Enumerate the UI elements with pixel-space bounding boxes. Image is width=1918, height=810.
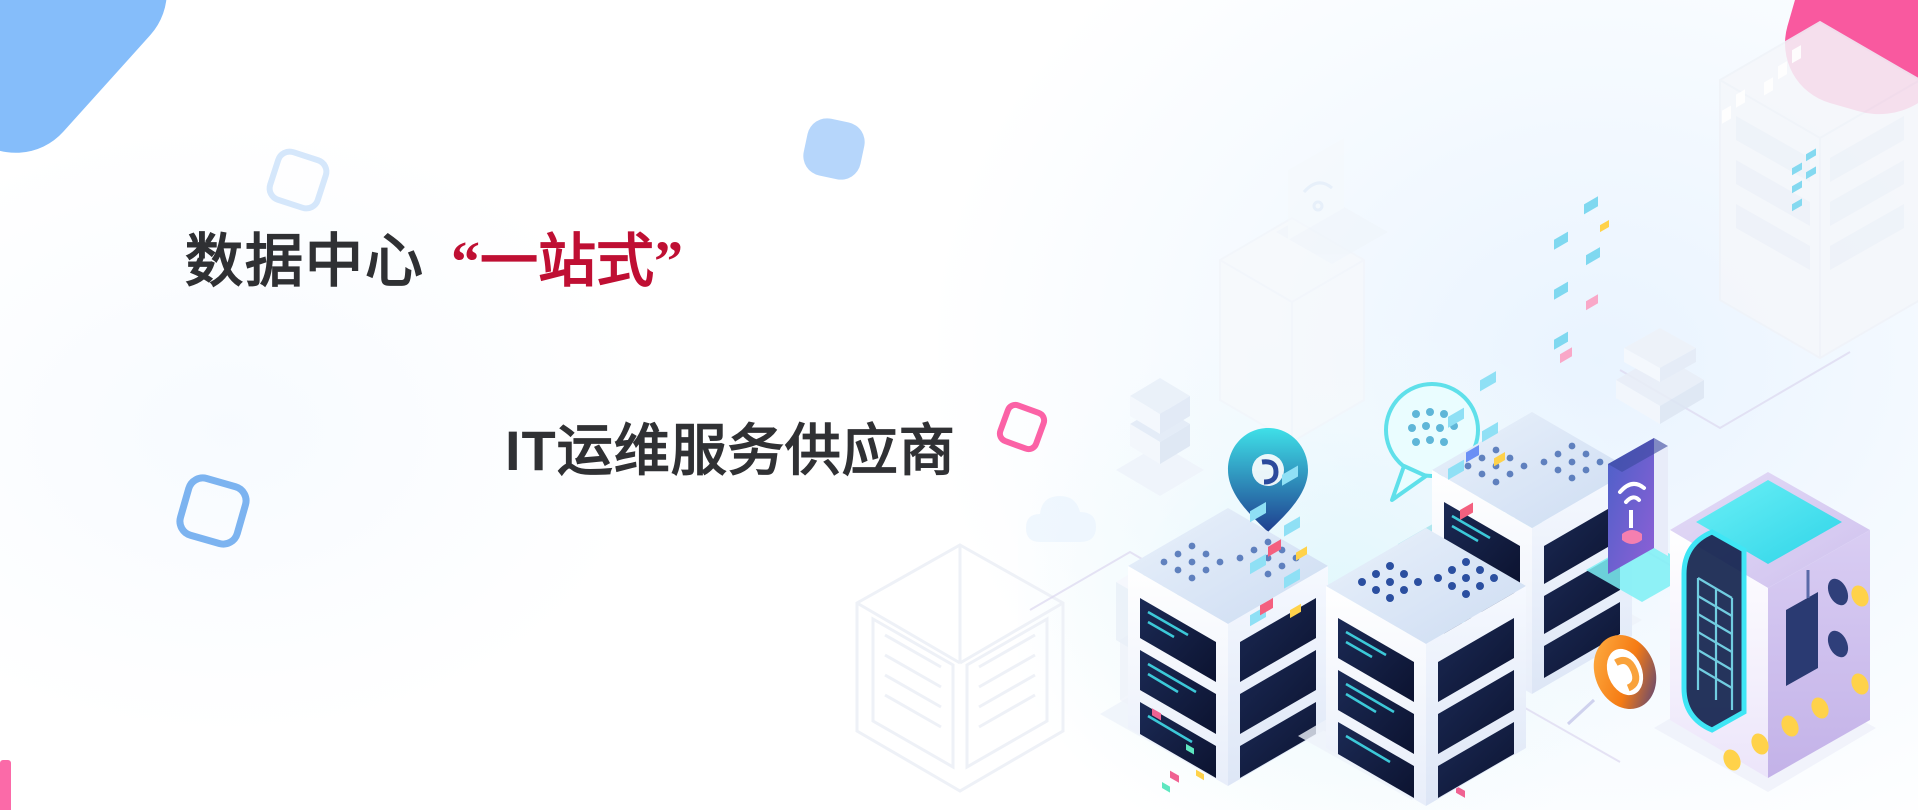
- ring-blue-small-shape: [263, 145, 334, 216]
- ghost-cube-stack: [1616, 328, 1704, 424]
- hero-banner: 数据中心“一站式” IT运维服务供应商: [0, 0, 1918, 810]
- dot-blue-filled-shape: [800, 115, 869, 184]
- headline-line-2: IT运维服务供应商: [505, 406, 1085, 487]
- ghost-cloud: [1026, 496, 1096, 542]
- headline-block: 数据中心“一站式” IT运维服务供应商: [185, 230, 1085, 487]
- headline-line-1: 数据中心“一站式”: [185, 230, 1085, 294]
- data-center-illustration: [1020, 0, 1918, 810]
- cube-small: [1116, 378, 1204, 496]
- server-rack-front-left: [1100, 465, 1328, 792]
- quote-open: “: [451, 229, 480, 294]
- headline-highlight: 一站式: [480, 229, 654, 294]
- headline-prefix: 数据中心: [185, 229, 425, 294]
- quote-close: ”: [654, 229, 683, 294]
- ghost-building: [1720, 22, 1918, 358]
- bar-pink-bottom-left-shape: [0, 760, 11, 810]
- blob-blue-top-left-shape: [0, 0, 193, 179]
